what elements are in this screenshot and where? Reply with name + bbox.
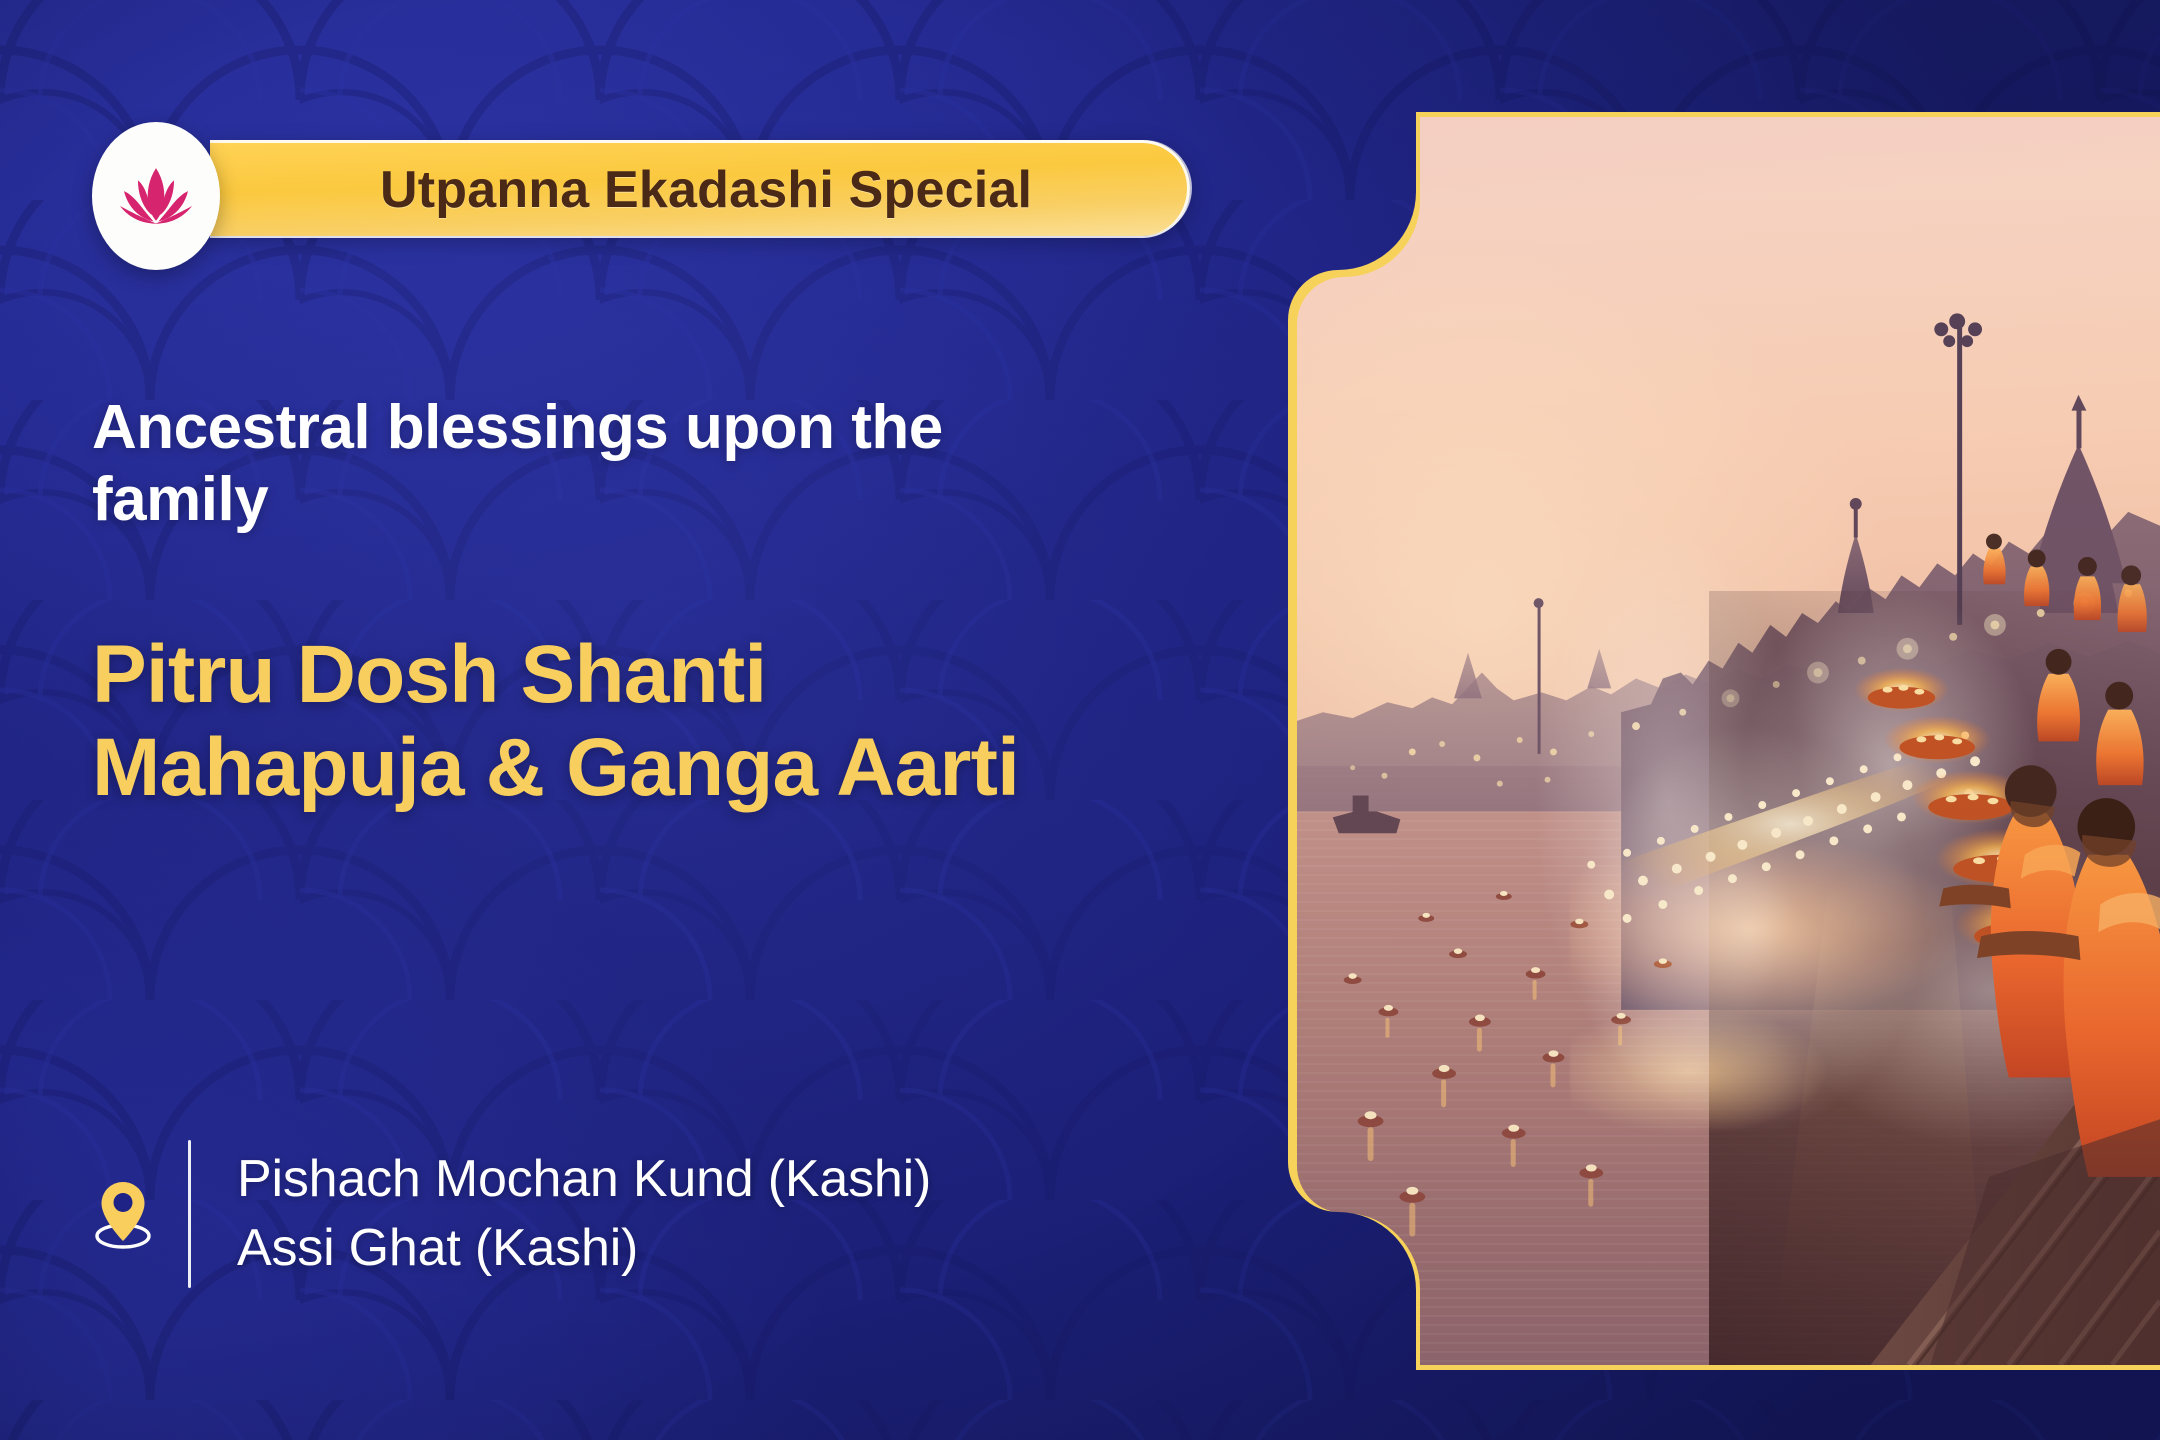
promo-banner: Utpanna Ekadashi Special Ancestral bless… — [0, 0, 2160, 1440]
lotus-icon — [115, 155, 197, 237]
photo-frame — [1288, 112, 2160, 1370]
location-block: Pishach Mochan Kund (Kashi) Assi Ghat (K… — [92, 1140, 931, 1288]
location-line-1: Pishach Mochan Kund (Kashi) — [237, 1145, 931, 1214]
location-divider — [188, 1140, 191, 1288]
page-title: Pitru Dosh Shanti Mahapuja & Ganga Aarti — [92, 628, 1032, 815]
ganga-aarti-photo — [1293, 117, 2160, 1365]
map-pin-wrap — [92, 1176, 188, 1252]
badge-icon-circle — [92, 122, 220, 270]
map-pin-icon — [92, 1176, 154, 1252]
badge-pill: Utpanna Ekadashi Special — [210, 140, 1190, 236]
subheadline: Ancestral blessings upon the family — [92, 392, 1012, 536]
badge-label: Utpanna Ekadashi Special — [380, 160, 1032, 220]
photo-priests — [1293, 117, 2160, 1365]
location-line-2: Assi Ghat (Kashi) — [237, 1214, 931, 1283]
location-text: Pishach Mochan Kund (Kashi) Assi Ghat (K… — [237, 1145, 931, 1282]
